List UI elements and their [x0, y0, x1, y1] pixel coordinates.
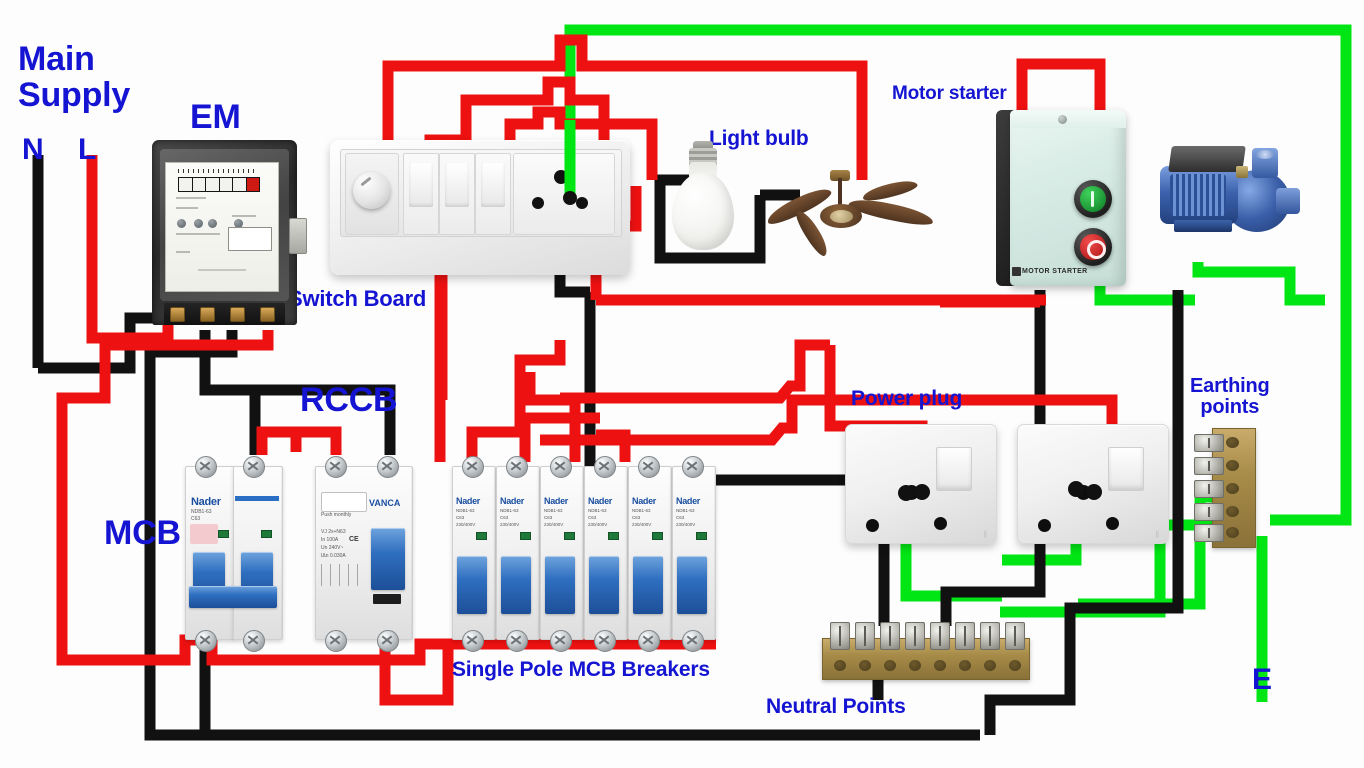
mcb-terminal-top-2 — [243, 456, 265, 478]
rccb-model-text: VJ 2x+N63 — [321, 530, 346, 536]
sp-mcb-brand-4: Nader — [588, 496, 612, 506]
mcb-terminal-top-1 — [195, 456, 217, 478]
socket-left-live-terminal — [934, 517, 947, 530]
sp-mcb-terminal-bottom-5 — [638, 630, 660, 652]
sp-mcb-spec-3: 230/400V — [544, 522, 563, 527]
socket-right-neutral-terminal — [1038, 519, 1051, 532]
sp-mcb-brand-6: Nader — [676, 496, 700, 506]
rccb-circuit-symbol — [321, 564, 361, 586]
sp-mcb-model-4: NDB1-63 — [588, 508, 607, 513]
rccb-test-button[interactable] — [321, 492, 367, 512]
sp-mcb-model-2: NDB1-63 — [500, 508, 519, 513]
meter-terminal-block — [164, 303, 285, 325]
rccb-push-text: Push monthly — [321, 513, 351, 519]
sp-mcb-terminal-bottom-4 — [594, 630, 616, 652]
label-main-supply: Main Supply — [18, 42, 130, 113]
mcb-terminal-bottom-2 — [243, 630, 265, 652]
fan-blade-4 — [861, 177, 918, 203]
wiring-diagram-canvas: Main Supply N L EM Switch Board Light bu… — [0, 0, 1364, 768]
meter-seal-clamp — [289, 218, 307, 254]
socket-left-mark: || — [983, 531, 987, 538]
neutral-bus-hole-1 — [834, 660, 846, 671]
socket-rocker-switch-left[interactable] — [936, 447, 972, 491]
sp-mcb-model-3: NDB1-63 — [544, 508, 563, 513]
sp-mcb-lever-4[interactable] — [589, 556, 619, 614]
sp-mcb-terminal-bottom-1 — [462, 630, 484, 652]
bulb-glass — [672, 172, 734, 250]
neutral-bus-hole-6 — [959, 660, 971, 671]
rccb-voltage-text: Un 240V~ — [321, 546, 343, 552]
sp-mcb-model-5: NDB1-63 — [632, 508, 651, 513]
fan-regulator-knob[interactable] — [353, 172, 390, 209]
sp-mcb-rating-3: C63 — [544, 515, 552, 520]
light-bulb — [672, 148, 738, 258]
label-single-pole-mcb: Single Pole MCB Breakers — [452, 659, 710, 681]
earth-bus-hole-5 — [1226, 527, 1239, 538]
mcb-cert-blob — [190, 524, 218, 544]
sp-mcb-rating-4: C63 — [588, 515, 596, 520]
socket-neutral-hole — [532, 197, 544, 209]
water-pump-motor — [1160, 140, 1310, 250]
sp-mcb-model-1: NDB1-63 — [456, 508, 475, 513]
label-light-bulb: Light bulb — [709, 128, 808, 150]
starter-lid — [1010, 110, 1126, 128]
neutral-bus-hole-2 — [859, 660, 871, 671]
power-plug-socket-right[interactable]: || — [1017, 424, 1169, 544]
label-neutral-terminal: N — [22, 134, 43, 166]
single-pole-mcb-bank[interactable]: Nader NDB1-63 C63 230/400V Nader NDB1-63… — [452, 452, 718, 652]
label-motor-starter: Motor starter — [892, 84, 1007, 104]
rccb-device[interactable]: Push monthly VANCA VJ 2x+N63 In 100A CE … — [315, 452, 411, 652]
fan-down-rod — [838, 178, 842, 206]
sp-mcb-rating-5: C63 — [632, 515, 640, 520]
neutral-bus-hole-8 — [1009, 660, 1021, 671]
neutral-bus-screw-6 — [955, 622, 975, 650]
earth-bus-hole-2 — [1226, 460, 1239, 471]
sp-mcb-brand-1: Nader — [456, 496, 480, 506]
sp-mcb-lever-5[interactable] — [633, 556, 663, 614]
energy-meter-faceplate — [165, 162, 279, 292]
rccb-terminal-bottom-1 — [325, 630, 347, 652]
rccb-terminal-top-2 — [377, 456, 399, 478]
socket-right-mark: || — [1155, 531, 1159, 538]
pump-cooling-fins — [1170, 174, 1226, 216]
sp-mcb-led-3 — [564, 532, 575, 540]
starter-face-text: MOTOR STARTER — [1022, 268, 1088, 275]
sp-mcb-brand-5: Nader — [632, 496, 656, 506]
sp-mcb-rating-1: C63 — [456, 515, 464, 520]
label-live-terminal: L — [78, 134, 96, 166]
rccb-lever-window — [373, 594, 401, 604]
earth-bus-hole-4 — [1226, 506, 1239, 517]
socket-right-live-terminal — [1106, 517, 1119, 530]
mcb-rating-text: C63 — [191, 517, 200, 523]
rccb-terminal-bottom-2 — [377, 630, 399, 652]
neutral-bus-screw-5 — [930, 622, 950, 650]
sp-mcb-led-4 — [608, 532, 619, 540]
label-earthing-points: Earthing points — [1190, 376, 1270, 418]
stop-button[interactable] — [1074, 228, 1112, 266]
rccb-ce-mark: CE — [349, 536, 359, 543]
mcb-model-text: NDB1-63 — [191, 510, 212, 516]
switch-board[interactable] — [330, 140, 630, 280]
neutral-bus-screw-8 — [1005, 622, 1025, 650]
wall-switch-3[interactable] — [475, 153, 511, 235]
fan-hub-cap — [830, 210, 853, 223]
rccb-toggle-lever[interactable] — [371, 528, 405, 590]
sp-mcb-led-6 — [696, 532, 707, 540]
earth-bus-hole-3 — [1226, 483, 1239, 494]
rccb-sensitivity-text: IΔn 0.030A — [321, 554, 346, 560]
start-button[interactable] — [1074, 180, 1112, 218]
sp-mcb-spec-6: 230/400V — [676, 522, 695, 527]
sp-mcb-lever-1[interactable] — [457, 556, 487, 614]
neutral-bus-screw-2 — [855, 622, 875, 650]
sp-mcb-lever-3[interactable] — [545, 556, 575, 614]
pump-bolt — [1236, 166, 1248, 178]
sp-mcb-lever-6[interactable] — [677, 556, 707, 614]
mcb-indicator-led-1 — [218, 530, 229, 538]
earthing-bus-bar[interactable] — [1194, 428, 1260, 546]
switch-board-inner — [340, 149, 622, 237]
neutral-bus-hole-7 — [984, 660, 996, 671]
mcb-lever-tie-bar[interactable] — [189, 586, 277, 608]
wall-switch-1[interactable] — [403, 153, 439, 235]
label-earth-terminal: E — [1252, 664, 1272, 696]
sp-mcb-led-5 — [652, 532, 663, 540]
earth-bus-screw-5 — [1194, 524, 1224, 542]
sp-mcb-rating-6: C63 — [676, 515, 684, 520]
rccb-brand-text: VANCA — [369, 498, 400, 508]
rccb-terminal-top-1 — [325, 456, 347, 478]
starter-brand-logo — [1012, 267, 1021, 276]
earth-bus-screw-1 — [1194, 434, 1224, 452]
socket-right-earth-terminal — [1076, 485, 1091, 500]
mcb-diagram-strip — [235, 496, 279, 501]
neutral-bus-screw-3 — [880, 622, 900, 650]
neutral-bus-hole-3 — [884, 660, 896, 671]
socket-left-earth-terminal — [904, 485, 919, 500]
neutral-bus-bar[interactable] — [822, 622, 1028, 680]
sp-mcb-lever-2[interactable] — [501, 556, 531, 614]
starter-lid-screw — [1058, 115, 1067, 124]
socket-earth-hole — [554, 170, 568, 184]
sp-mcb-terminal-top-6 — [682, 456, 704, 478]
sp-mcb-spec-4: 230/400V — [588, 522, 607, 527]
sp-mcb-led-2 — [520, 532, 531, 540]
sp-mcb-spec-1: 230/400V — [456, 522, 475, 527]
pump-terminal-box — [1168, 146, 1246, 172]
sp-mcb-terminal-top-5 — [638, 456, 660, 478]
mcb-indicator-led-2 — [261, 530, 272, 538]
sp-mcb-terminal-bottom-6 — [682, 630, 704, 652]
earth-bus-screw-3 — [1194, 480, 1224, 498]
pump-inlet-port — [1252, 148, 1278, 178]
sp-mcb-terminal-bottom-3 — [550, 630, 572, 652]
neutral-bus-hole-5 — [934, 660, 946, 671]
sp-mcb-spec-5: 230/400V — [632, 522, 651, 527]
sp-mcb-spec-2: 230/400V — [500, 522, 519, 527]
label-rccb: RCCB — [300, 383, 397, 419]
rccb-current-text: In 100A — [321, 538, 338, 544]
mcb-brand-text: Nader — [191, 496, 221, 508]
mcb-terminal-bottom-1 — [195, 630, 217, 652]
sp-mcb-brand-2: Nader — [500, 496, 524, 506]
sp-mcb-terminal-bottom-2 — [506, 630, 528, 652]
sp-mcb-rating-2: C63 — [500, 515, 508, 520]
neutral-bus-screw-7 — [980, 622, 1000, 650]
neutral-bus-screw-4 — [905, 622, 925, 650]
label-power-plug: Power plug — [851, 388, 962, 410]
earth-bus-screw-4 — [1194, 503, 1224, 521]
socket-left-neutral-terminal — [866, 519, 879, 532]
sp-mcb-terminal-top-3 — [550, 456, 572, 478]
meter-scale — [178, 169, 258, 173]
power-plug-socket-left[interactable]: || — [845, 424, 997, 544]
socket-rocker-switch-right[interactable] — [1108, 447, 1144, 491]
sp-mcb-terminal-top-4 — [594, 456, 616, 478]
label-neutral-points: Neutral Points — [766, 696, 906, 718]
sp-mcb-brand-3: Nader — [544, 496, 568, 506]
earth-bus-hole-1 — [1226, 437, 1239, 448]
motor-starter[interactable]: MOTOR STARTER — [996, 110, 1130, 288]
switch-board-socket[interactable] — [513, 153, 615, 235]
label-mcb: MCB — [104, 516, 181, 552]
mcb-double-pole[interactable]: Nader NDB1-63 C63 — [185, 452, 281, 652]
meter-nameplate — [228, 227, 272, 251]
sp-mcb-led-1 — [476, 532, 487, 540]
pump-discharge-port — [1276, 188, 1300, 214]
sp-mcb-terminal-top-1 — [462, 456, 484, 478]
energy-meter[interactable] — [152, 140, 312, 330]
earth-bus-screw-2 — [1194, 457, 1224, 475]
neutral-bus-screw-1 — [830, 622, 850, 650]
neutral-bus-hole-4 — [909, 660, 921, 671]
sp-mcb-model-6: NDB1-63 — [676, 508, 695, 513]
ceiling-fan — [810, 168, 950, 260]
wall-switch-2[interactable] — [439, 153, 475, 235]
label-energy-meter: EM — [190, 100, 241, 136]
sp-mcb-terminal-top-2 — [506, 456, 528, 478]
socket-live-hole — [576, 197, 588, 209]
pump-base-foot — [1174, 220, 1232, 232]
meter-digit-display — [178, 177, 260, 192]
